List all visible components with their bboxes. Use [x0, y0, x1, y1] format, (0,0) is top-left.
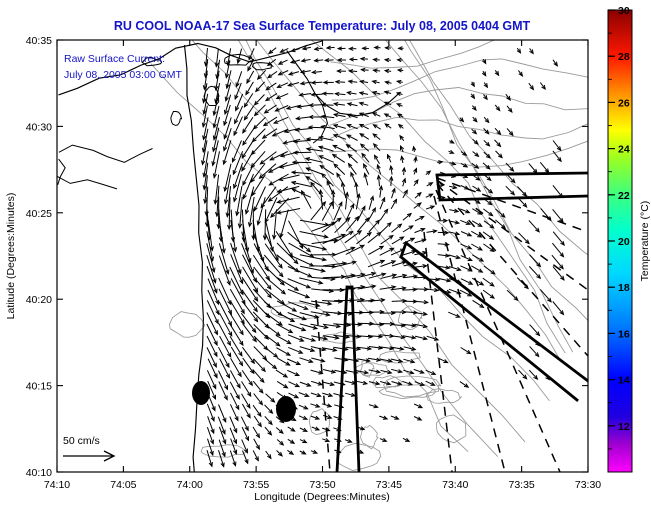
x-tick-label: 73:35 [508, 479, 534, 491]
colorbar-tick-label: 24 [618, 144, 630, 156]
x-tick-label: 74:05 [110, 479, 136, 491]
sst-surface-current-figure: RU COOL NOAA-17 Sea Surface Temperature:… [0, 0, 651, 518]
current-vector [379, 323, 393, 324]
x-tick-label: 74:10 [44, 479, 70, 491]
page-title: RU COOL NOAA-17 Sea Surface Temperature:… [114, 19, 531, 33]
x-tick-label: 73:55 [243, 479, 269, 491]
y-tick-label: 40:10 [26, 467, 52, 479]
x-axis-label: Longitude (Degrees:Minutes) [254, 491, 389, 503]
colorbar-tick-label: 20 [618, 236, 630, 248]
annotation-line-1: Raw Surface Current: [64, 53, 165, 65]
colorbar-tick-label: 26 [618, 97, 630, 109]
station-marker [192, 381, 210, 405]
annotation-line-2: July 08, 2005 03:00 GMT [64, 69, 182, 81]
station-marker [276, 396, 296, 422]
colorbar-tick-label: 16 [618, 328, 630, 340]
y-tick-label: 40:15 [26, 381, 52, 393]
colorbar-tick-label: 14 [618, 375, 630, 387]
figure-canvas: RU COOL NOAA-17 Sea Surface Temperature:… [0, 0, 651, 518]
colorbar-tick-label: 18 [618, 282, 630, 294]
y-tick-label: 40:25 [26, 208, 52, 220]
current-vector [294, 152, 312, 153]
colorbar-tick-label: 30 [618, 5, 630, 17]
y-tick-label: 40:20 [26, 294, 52, 306]
y-tick-label: 40:30 [26, 121, 52, 133]
colorbar-tick-label: 28 [618, 51, 630, 63]
colorbar-label: Temperature (°C) [639, 201, 651, 282]
y-axis-label: Latitude (Degrees:Minutes) [5, 193, 17, 320]
x-tick-label: 73:45 [376, 479, 402, 491]
scale-legend-label: 50 cm/s [63, 435, 100, 447]
current-vector [368, 324, 383, 325]
colorbar-tick-label: 22 [618, 190, 630, 202]
x-tick-label: 74:00 [177, 479, 203, 491]
x-tick-label: 73:50 [309, 479, 335, 491]
y-tick-label: 40:35 [26, 35, 52, 47]
x-tick-label: 73:30 [575, 479, 601, 491]
current-vector [309, 127, 323, 128]
x-tick-label: 73:40 [442, 479, 468, 491]
colorbar-tick-label: 12 [618, 421, 630, 433]
